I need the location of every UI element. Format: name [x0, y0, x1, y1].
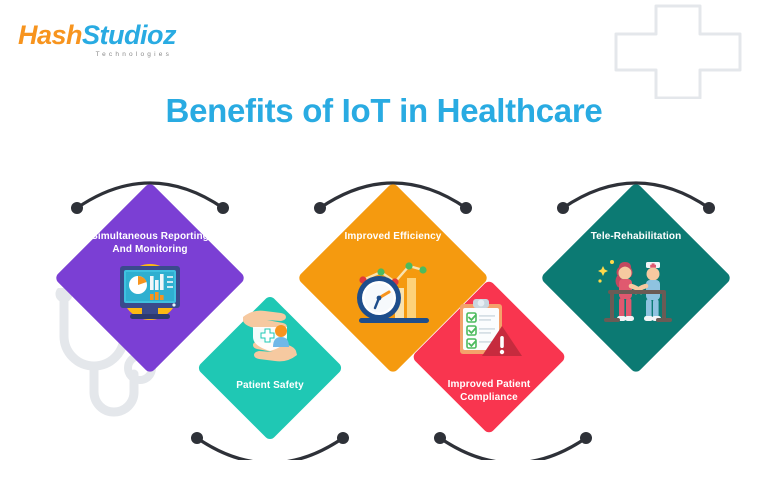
logo-studioz-text: Studioz: [82, 20, 176, 50]
card-label: Improved Patient Compliance: [398, 378, 580, 404]
card-label: Patient Safety: [197, 379, 343, 392]
clipboard-checklist-warning-icon: [452, 298, 526, 360]
infographic-canvas: HashStudioz Technologies Benefits of IoT…: [0, 0, 768, 480]
card-label: Improved Efficiency: [297, 230, 489, 243]
hands-shield-person-icon: [237, 303, 303, 365]
page-title: Benefits of IoT in Healthcare: [0, 92, 768, 130]
card-label: Simultaneous Reporting And Monitoring: [54, 230, 246, 256]
logo-tagline: Technologies: [18, 52, 176, 59]
brand-logo: HashStudioz Technologies: [18, 22, 176, 59]
rehabilitation-parallel-bars-icon: [594, 254, 676, 328]
logo-wordmark: HashStudioz: [18, 22, 176, 49]
monitor-dashboard-icon: [112, 256, 188, 328]
card-label: Tele-Rehabilitation: [540, 230, 732, 243]
medical-cross-icon: [608, 4, 748, 99]
card-tele-rehabilitation[interactable]: Tele-Rehabilitation: [540, 182, 732, 374]
logo-hash-text: Hash: [18, 20, 82, 50]
